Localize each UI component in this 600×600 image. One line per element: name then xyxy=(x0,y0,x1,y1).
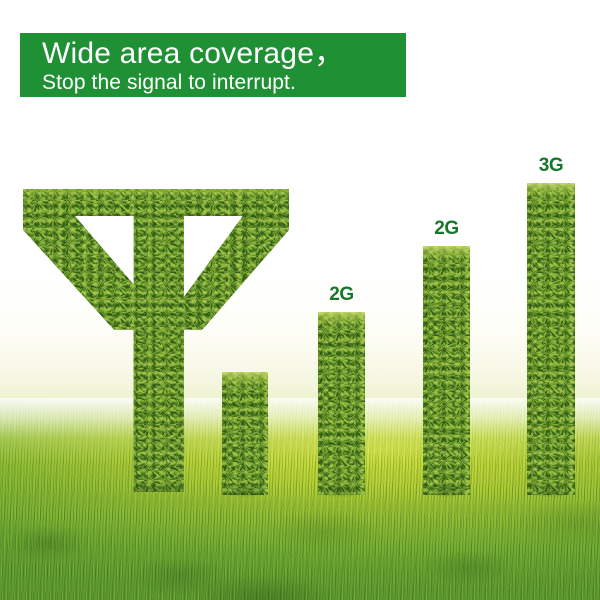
signal-bar-2-label: 2G xyxy=(318,285,365,304)
signal-bar-4-label: 3G xyxy=(527,156,575,175)
banner-subhead: Stop the signal to interrupt. xyxy=(42,71,406,95)
banner-headline: Wide area coverage， xyxy=(42,37,406,71)
headline-banner: Wide area coverage， Stop the signal to i… xyxy=(20,33,406,97)
signal-bar-4 xyxy=(527,183,575,495)
signal-bar-1 xyxy=(222,372,268,495)
promotional-banner-image: 2G 2G 3G Wide area coverage， Stop the si… xyxy=(0,0,600,600)
signal-bar-3 xyxy=(423,246,470,495)
signal-bar-3-label: 2G xyxy=(423,219,470,238)
signal-bar-2 xyxy=(318,312,365,495)
